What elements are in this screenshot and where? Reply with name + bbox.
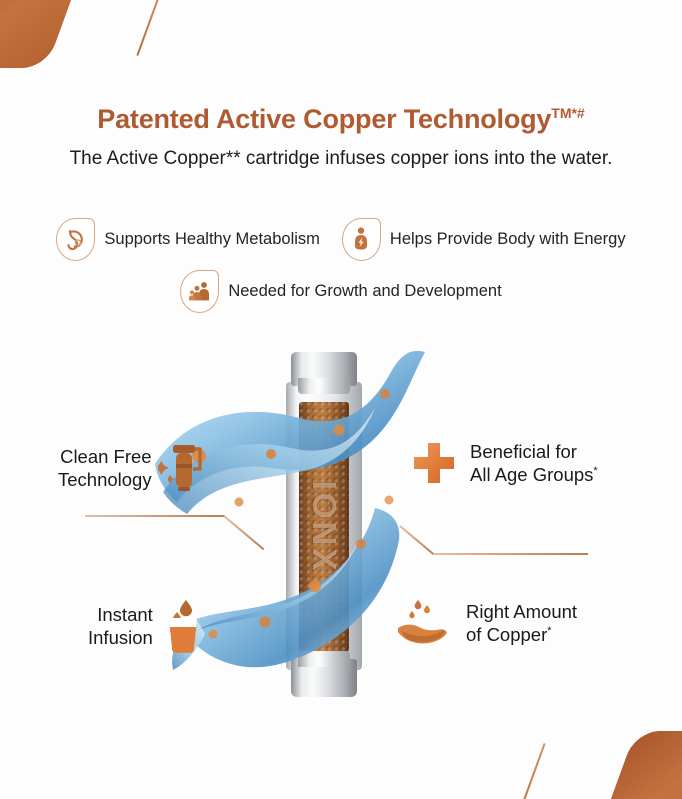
cartridge-cap-lip-top — [298, 378, 350, 394]
trademark-marks: TM*# — [551, 105, 584, 121]
page-title: Patented Active Copper TechnologyTM*# — [0, 104, 682, 135]
product-brand-text: IONX — [305, 481, 343, 574]
corner-accent-line-top-left — [136, 0, 165, 56]
benefit-helps-provide-body-with-energy: Helps Provide Body with Energy — [342, 218, 626, 261]
plus-cross-icon — [412, 441, 456, 485]
connector-line-right — [400, 525, 600, 575]
hand-drops-icon — [396, 598, 454, 648]
cartridge-cap-lip-bottom — [298, 651, 350, 667]
corner-accent-line-bottom-right — [516, 743, 545, 799]
benefit-needed-for-growth-and-development: Needed for Growth and Development — [180, 270, 501, 313]
benefit-label: Needed for Growth and Development — [228, 282, 501, 301]
energy-body-icon — [342, 218, 381, 261]
poster-canvas: Patented Active Copper TechnologyTM*# Th… — [0, 0, 682, 799]
family-growth-icon — [180, 270, 219, 313]
benefit-label: Helps Provide Body with Energy — [390, 230, 626, 249]
benefit-row-secondary: Needed for Growth and Development — [0, 270, 682, 313]
feature-label: Clean Free Technology — [58, 445, 152, 492]
page-title-text: Patented Active Copper Technology — [97, 104, 551, 134]
water-purifier-icon — [156, 440, 202, 496]
glass-drop-icon — [161, 598, 203, 654]
stomach-icon — [56, 218, 95, 261]
page-subtitle: The Active Copper** cartridge infuses co… — [0, 148, 682, 170]
benefit-label: Supports Healthy Metabolism — [104, 230, 320, 249]
benefit-supports-healthy-metabolism: Supports Healthy Metabolism — [56, 218, 320, 261]
connector-line-left — [85, 515, 265, 561]
feature-instant-infusion: Instant Infusion — [88, 598, 203, 654]
feature-clean-free-technology: Clean Free Technology — [58, 440, 202, 496]
product-cartridge: IONX — [265, 352, 383, 697]
corner-decoration-bottom-right — [588, 731, 682, 799]
feature-right-amount-of-copper: Right Amount of Copper* — [396, 598, 577, 648]
feature-label: Beneficial for All Age Groups* — [470, 440, 598, 487]
benefit-row-primary: Supports Healthy Metabolism Helps Provid… — [0, 218, 682, 261]
copper-granule-media: IONX — [299, 402, 349, 652]
feature-label: Right Amount of Copper* — [466, 600, 577, 647]
corner-decoration-top-left — [0, 0, 94, 68]
feature-label: Instant Infusion — [88, 603, 153, 650]
feature-beneficial-all-age-groups: Beneficial for All Age Groups* — [412, 440, 598, 487]
